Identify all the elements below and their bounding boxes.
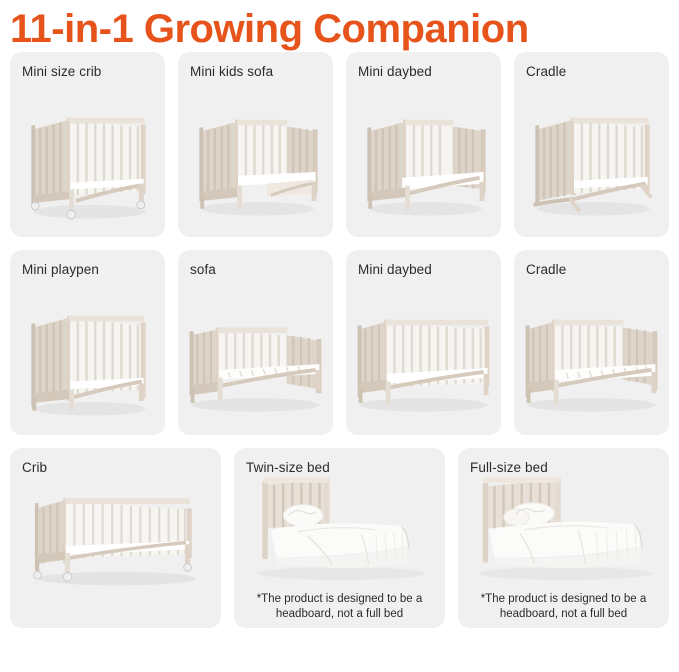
card-label: Full-size bed <box>470 460 548 475</box>
footnote-full: *The product is designed to be a headboa… <box>464 592 663 621</box>
twin-bed-icon <box>234 470 445 588</box>
card-mini-size-crib[interactable]: Mini size crib <box>10 52 165 237</box>
card-sofa[interactable]: sofa <box>178 250 333 435</box>
row-2: Mini playpen <box>10 250 669 435</box>
row-1: Mini size crib <box>10 52 669 237</box>
full-sofa-icon <box>178 278 333 429</box>
card-label: sofa <box>190 262 216 277</box>
page-title: 11-in-1 Growing Companion <box>0 0 679 52</box>
card-label: Mini kids sofa <box>190 64 273 79</box>
mini-kids-sofa-icon <box>178 80 333 231</box>
card-crib[interactable]: Crib <box>10 448 221 628</box>
card-mini-daybed-2[interactable]: Mini daybed <box>346 250 501 435</box>
card-label: Mini playpen <box>22 262 99 277</box>
card-twin-size-bed[interactable]: Twin-size bed <box>234 448 445 628</box>
card-label: Mini daybed <box>358 262 432 277</box>
mini-playpen-icon <box>10 278 165 429</box>
product-configurations-grid: Mini size crib <box>0 52 679 628</box>
card-full-size-bed[interactable]: Full-size bed <box>458 448 669 628</box>
card-label: Mini daybed <box>358 64 432 79</box>
footnote-twin: *The product is designed to be a headboa… <box>240 592 439 621</box>
full-crib-icon <box>346 278 501 429</box>
card-cradle-2[interactable]: Cradle <box>514 250 669 435</box>
card-label: Cradle <box>526 262 566 277</box>
card-label: Cradle <box>526 64 566 79</box>
card-cradle[interactable]: Cradle <box>514 52 669 237</box>
full-toddler-bed-icon <box>514 278 669 429</box>
row-3: Crib <box>10 448 669 628</box>
mini-cradle-rocker-icon <box>514 80 669 231</box>
card-mini-playpen[interactable]: Mini playpen <box>10 250 165 435</box>
card-label: Crib <box>22 460 47 475</box>
card-label: Twin-size bed <box>246 460 330 475</box>
card-mini-daybed[interactable]: Mini daybed <box>346 52 501 237</box>
mini-daybed-icon <box>346 80 501 231</box>
card-label: Mini size crib <box>22 64 101 79</box>
full-bed-icon <box>458 470 669 588</box>
infographic-page: 11-in-1 Growing Companion Mini size crib <box>0 0 679 672</box>
mini-crib-wheels-icon <box>10 80 165 231</box>
card-mini-kids-sofa[interactable]: Mini kids sofa <box>178 52 333 237</box>
full-crib-wheels-icon <box>10 474 221 594</box>
